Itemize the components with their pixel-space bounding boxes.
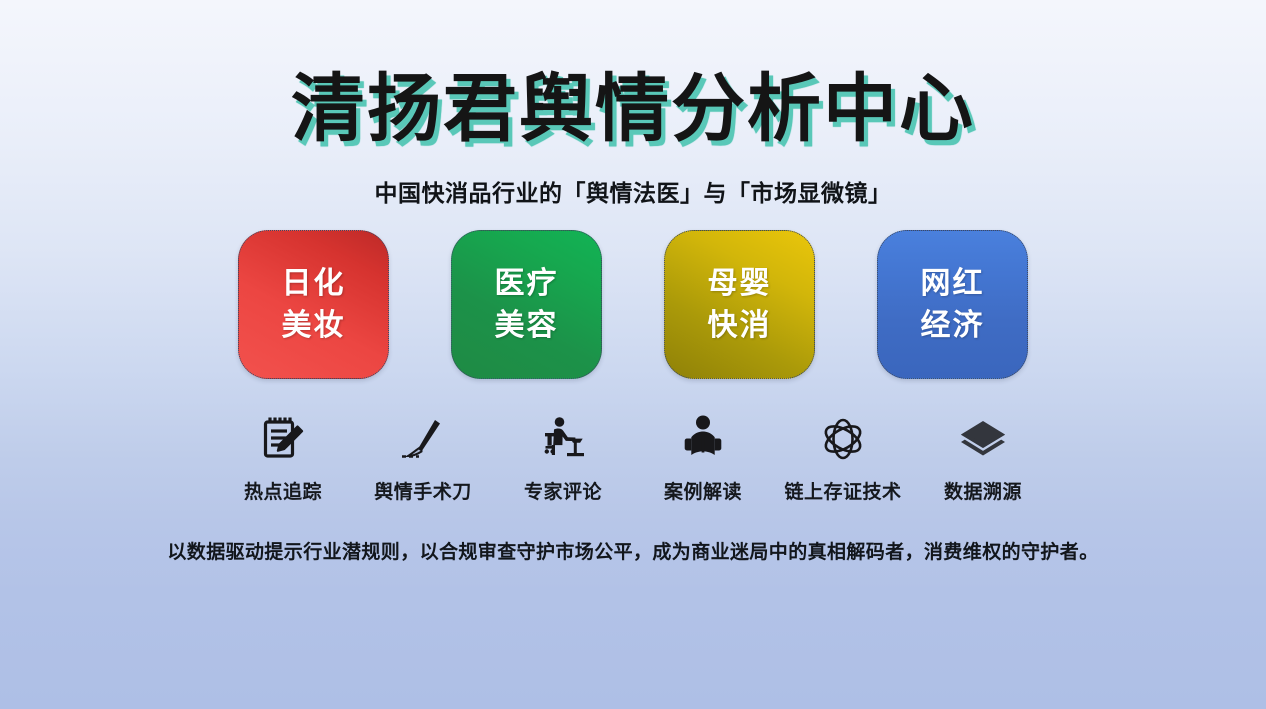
layers-icon [957,410,1009,468]
page-title: 清扬君舆情分析中心 [0,72,1266,146]
feature-label: 链上存证技术 [784,477,901,504]
feature-item-opinion-scalpel[interactable]: 舆情手术刀 [353,410,493,504]
card-label-line2: 美容 [495,305,559,346]
feature-item-data-traceability[interactable]: 数据溯源 [913,410,1053,504]
feature-item-onchain-evidence[interactable]: 链上存证技术 [773,410,913,504]
card-daily-chemical-beauty[interactable]: 日化 美妆 [238,230,389,379]
category-card-row: 日化 美妆 医疗 美容 母婴 快消 网红 经济 [0,230,1266,379]
notepad-pencil-icon [257,410,309,468]
footer-tagline: 以数据驱动提示行业潜规则，以合规审查守护市场公平，成为商业迷局中的真相解码者，消… [0,537,1266,564]
feature-label: 案例解读 [664,477,742,504]
card-label-line2: 经济 [921,305,985,346]
feature-item-case-interpretation[interactable]: 案例解读 [633,410,773,504]
scalpel-icon [397,410,449,468]
feature-label: 数据溯源 [944,477,1022,504]
feature-label: 专家评论 [524,477,602,504]
card-label-line1: 医疗 [495,263,559,304]
poster-canvas: 清扬君舆情分析中心 中国快消品行业的「舆情法医」与「市场显微镜」 日化 美妆 医… [0,0,1266,709]
feature-label: 舆情手术刀 [374,477,472,504]
feature-label: 热点追踪 [244,477,322,504]
card-label-line1: 网红 [921,263,985,304]
card-label-line2: 快消 [708,305,772,346]
feature-row: 热点追踪 舆情手术刀 [0,410,1266,504]
feature-item-hotspot-tracking[interactable]: 热点追踪 [213,410,353,504]
page-subtitle: 中国快消品行业的「舆情法医」与「市场显微镜」 [0,174,1266,208]
card-medical-aesthetics[interactable]: 医疗 美容 [451,230,602,379]
card-label-line1: 母婴 [708,263,772,304]
card-label-line1: 日化 [282,263,346,304]
card-maternal-fmcg[interactable]: 母婴 快消 [664,230,815,379]
person-at-desk-icon [537,410,589,468]
person-reading-book-icon [677,410,729,468]
feature-item-expert-commentary[interactable]: 专家评论 [493,410,633,504]
card-label-line2: 美妆 [282,305,346,346]
card-influencer-economy[interactable]: 网红 经济 [877,230,1028,379]
atom-icon [817,410,869,468]
title-block: 清扬君舆情分析中心 [0,72,1266,146]
